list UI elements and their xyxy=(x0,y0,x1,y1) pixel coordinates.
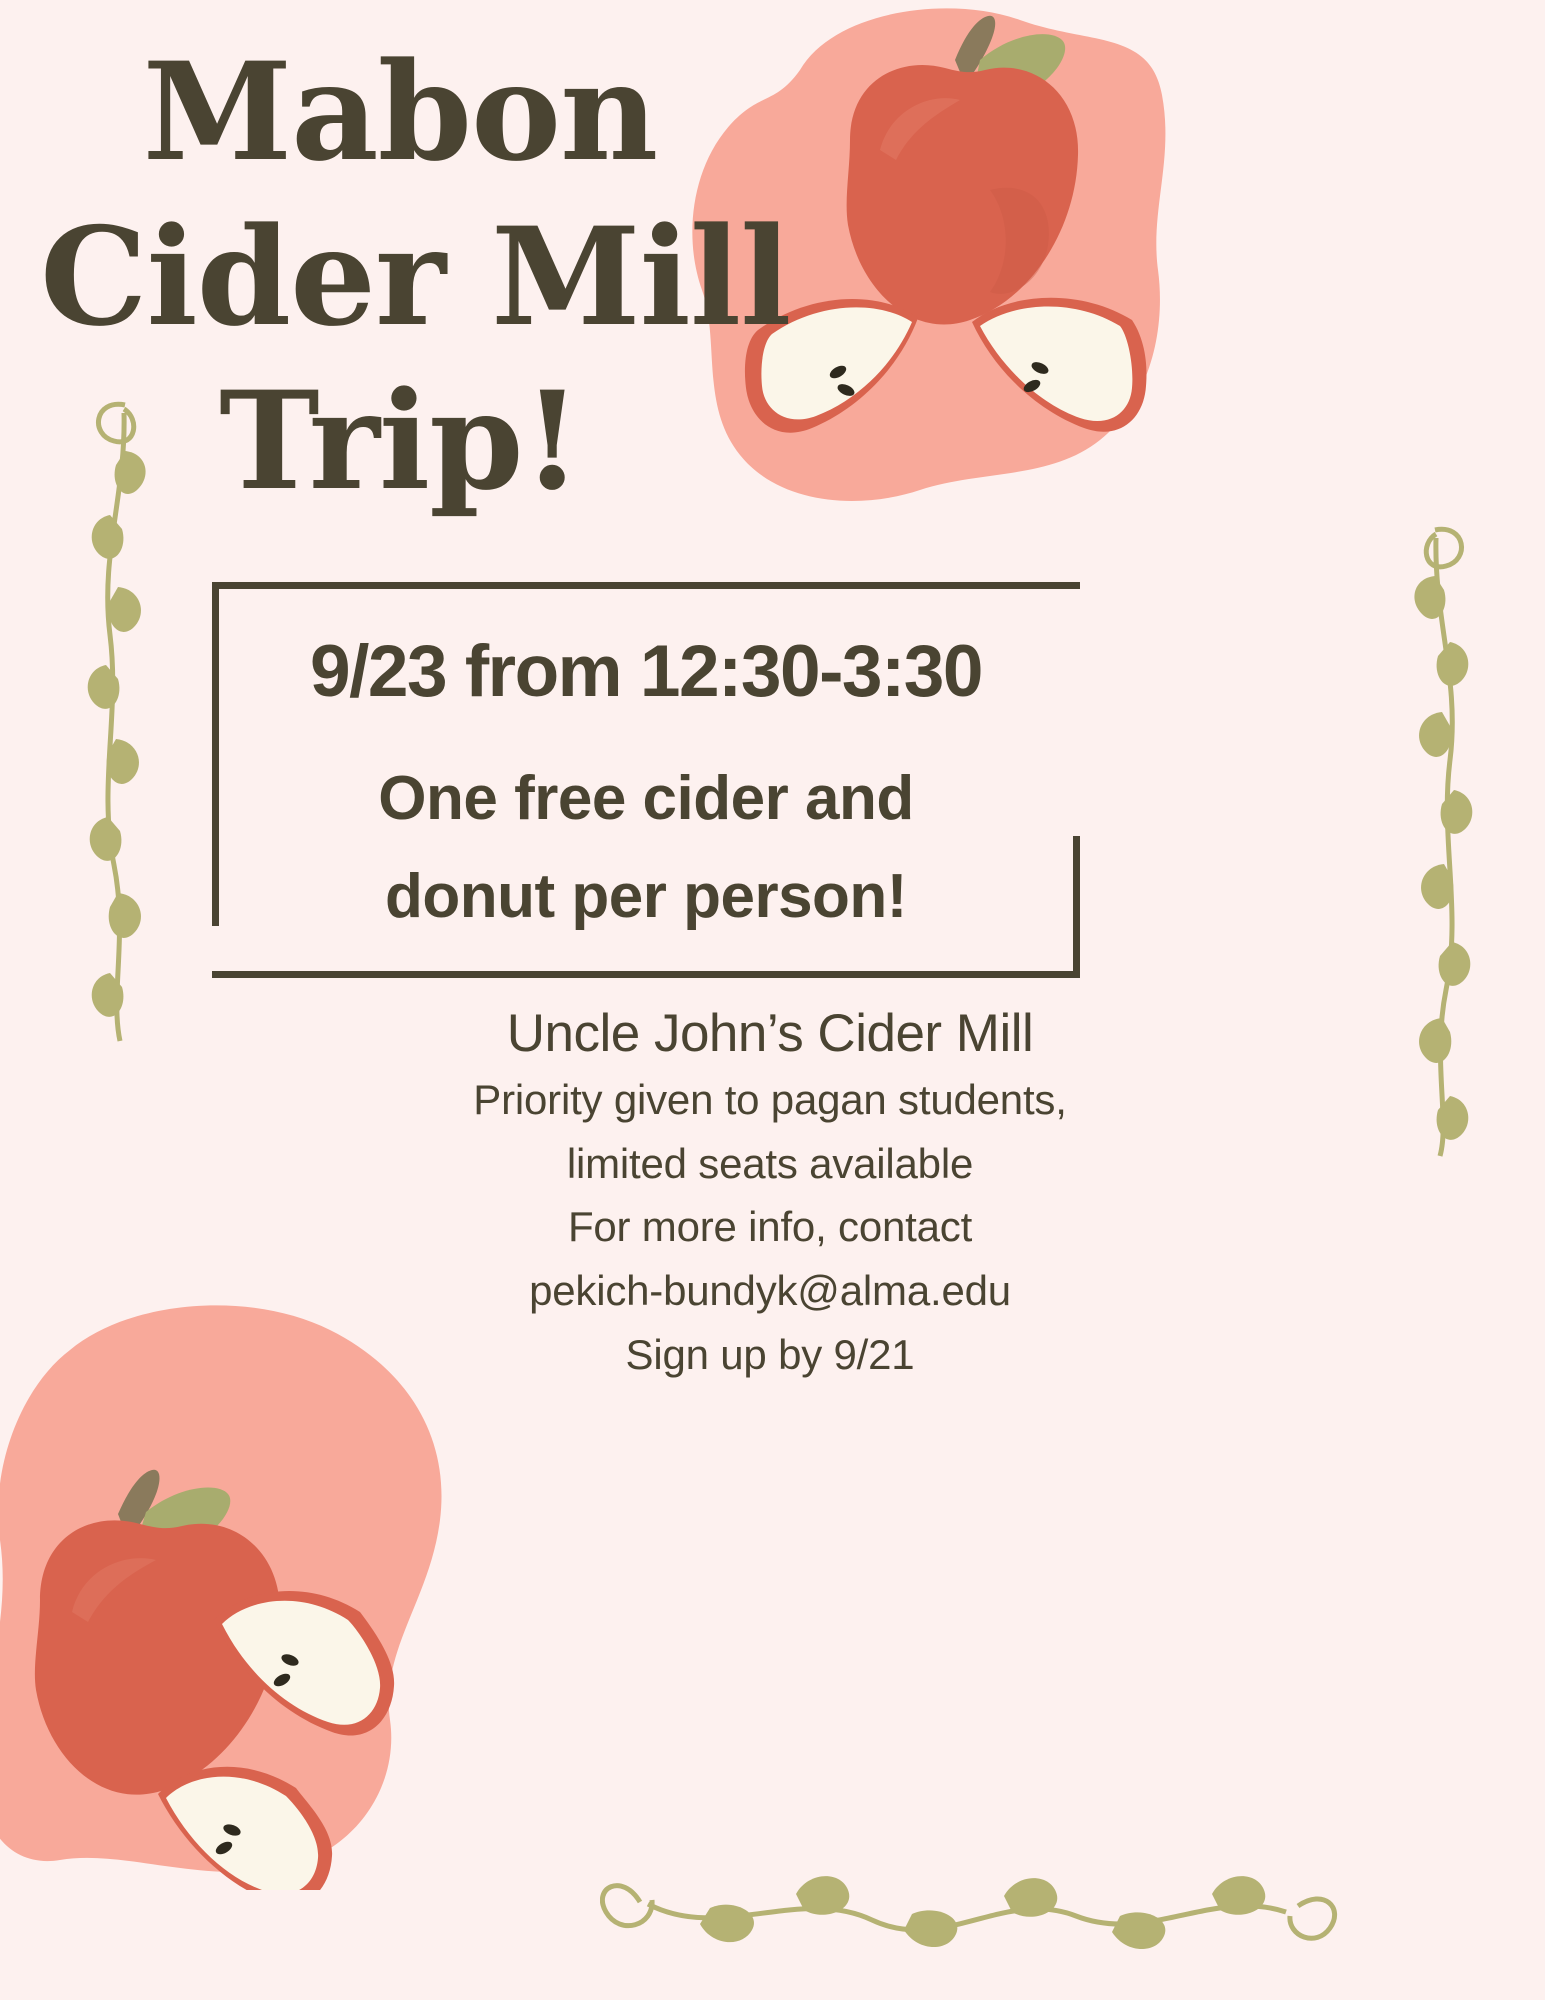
box-border-bottom xyxy=(212,971,1080,978)
footer-line-priority: Priority given to pagan students, xyxy=(420,1068,1120,1132)
footer-line-seats: limited seats available xyxy=(420,1132,1120,1196)
offer-line-1: One free cider and xyxy=(212,750,1080,848)
title-line-2: Cider Mill xyxy=(40,195,760,360)
venue-name: Uncle John’s Cider Mill xyxy=(420,1000,1120,1068)
footer-details: Uncle John’s Cider Mill Priority given t… xyxy=(420,1000,1120,1387)
footer-line-contact: For more info, contact xyxy=(420,1195,1120,1259)
vine-right-ornament xyxy=(1390,500,1480,1160)
event-details-box: 9/23 from 12:30-3:30 One free cider and … xyxy=(212,582,1080,978)
vine-bottom-ornament xyxy=(600,1850,1340,1980)
poster-title: Mabon Cider Mill Trip! xyxy=(40,30,760,524)
event-offer: One free cider and donut per person! xyxy=(212,750,1080,946)
footer-line-email: pekich-bundyk@alma.edu xyxy=(420,1259,1120,1323)
footer-line-deadline: Sign up by 9/21 xyxy=(420,1323,1120,1387)
event-datetime: 9/23 from 12:30-3:30 xyxy=(212,630,1080,713)
box-border-top xyxy=(212,582,1080,589)
offer-line-2: donut per person! xyxy=(212,848,1080,946)
title-line-3: Trip! xyxy=(40,359,760,524)
title-line-1: Mabon xyxy=(40,30,760,195)
flyer-poster: Mabon Cider Mill Trip! 9/23 from 12:30-3… xyxy=(0,0,1545,2000)
